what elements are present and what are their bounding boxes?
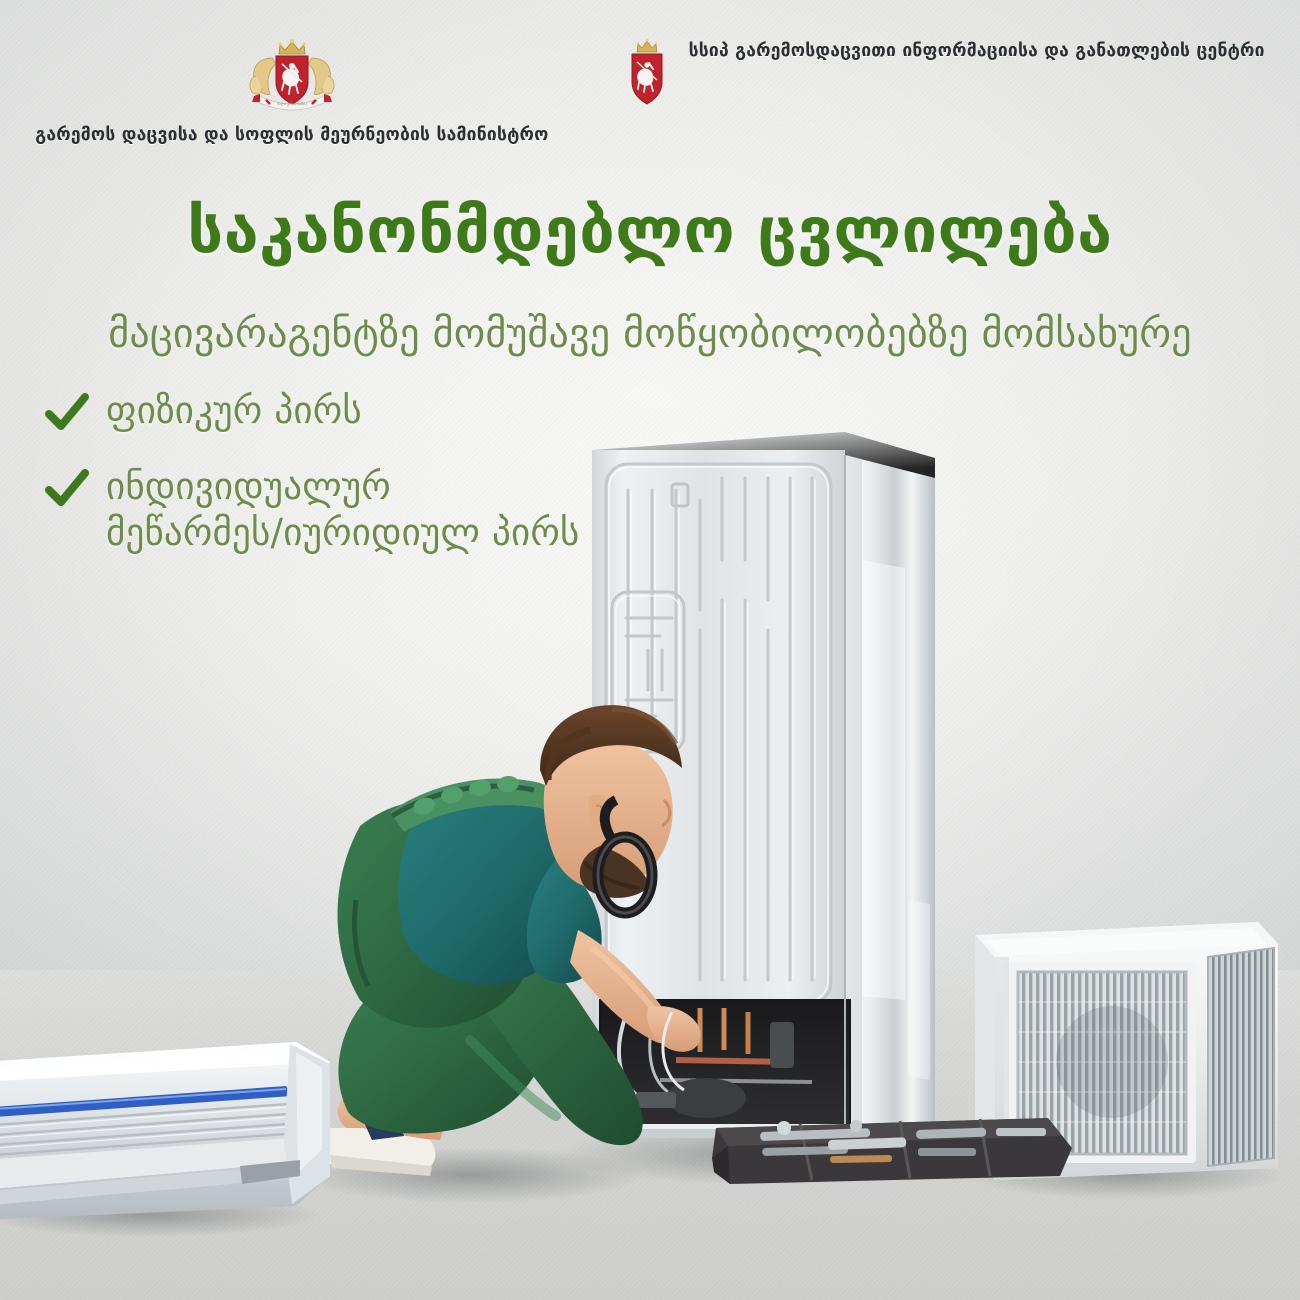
check-icon	[44, 390, 90, 436]
bullet-item-1: ფიზიკურ პირს	[44, 388, 664, 436]
svg-text:ძალა ერთობაშია: ძალა ერთობაშია	[277, 102, 307, 106]
bullet-label-2: ინდივიდუალურ მეწარმეს/იურიდიულ პირს	[106, 464, 580, 555]
org-center-label: სსიპ გარემოსდაცვითი ინფორმაციისა და განა…	[689, 40, 1265, 63]
georgia-coat-of-arms-full-icon: ძალა ერთობაშია	[242, 38, 342, 116]
org-ministry: ძალა ერთობაშია გარემოს დაცვისა და სოფლის…	[35, 38, 548, 147]
georgia-shield-small-icon	[619, 38, 675, 116]
bullet-item-2: ინდივიდუალურ მეწარმეს/იურიდიულ პირს	[44, 464, 664, 555]
page-title: საკანონმდებლო ცვლილება	[0, 196, 1300, 265]
header: ძალა ერთობაშია გარემოს დაცვისა და სოფლის…	[0, 38, 1300, 147]
bullet-label-1: ფიზიკურ პირს	[106, 388, 362, 434]
indoor-split-ac-unit	[0, 1042, 330, 1220]
page-subtitle: მაცივარაგენტზე მომუშავე მოწყობილობებზე მ…	[0, 312, 1300, 357]
poster-canvas: ძალა ერთობაშია გარემოს დაცვისა და სოფლის…	[0, 0, 1300, 1300]
open-toolbox	[712, 1118, 1072, 1184]
org-ministry-label: გარემოს დაცვისა და სოფლის მეურნეობის სამ…	[35, 124, 548, 147]
bullet-list: ფიზიკურ პირს ინდივიდუალურ მეწარმეს/იურიდ…	[44, 388, 664, 583]
check-icon	[44, 466, 90, 512]
org-center: სსიპ გარემოსდაცვითი ინფორმაციისა და განა…	[619, 38, 1265, 147]
